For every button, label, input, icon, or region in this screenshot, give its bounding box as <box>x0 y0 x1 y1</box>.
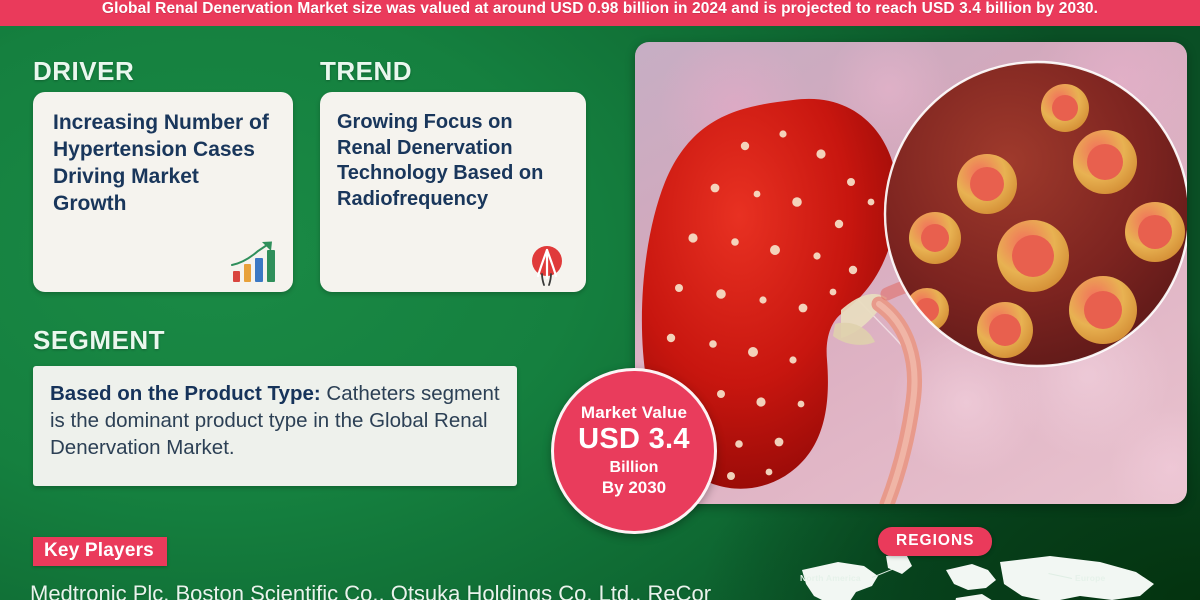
region-label-europe: Europe <box>1075 573 1105 583</box>
market-value-amount: USD 3.4 <box>578 423 690 456</box>
kidney-illustration-graphic <box>635 42 1187 504</box>
driver-heading: DRIVER <box>33 56 134 87</box>
market-value-label: Market Value <box>581 404 687 423</box>
market-value-year: By 2030 <box>602 478 666 498</box>
region-label-north-america: North America <box>800 573 861 583</box>
kidney-nerve-icon <box>524 244 570 286</box>
segment-label: Based on the Product Type: <box>50 382 321 405</box>
kidney-illustration <box>635 42 1187 504</box>
bar-chart-growth-icon <box>228 239 284 285</box>
driver-card-text: Increasing Number of Hypertension Cases … <box>53 110 275 218</box>
trend-heading: TREND <box>320 56 412 87</box>
regions-badge: REGIONS <box>878 527 992 556</box>
market-value-bubble: Market Value USD 3.4 Billion By 2030 <box>551 368 717 534</box>
top-banner: Global Renal Denervation Market size was… <box>0 0 1200 26</box>
key-players-badge: Key Players <box>33 537 167 566</box>
market-value-unit: Billion <box>610 458 659 477</box>
segment-card: Based on the Product Type: Catheters seg… <box>33 366 517 486</box>
left-content-column: DRIVER Increasing Number of Hypertension… <box>0 26 620 600</box>
top-banner-text: Global Renal Denervation Market size was… <box>102 1 1098 17</box>
segment-heading: SEGMENT <box>33 325 165 356</box>
key-players-list: Medtronic Plc, Boston Scientific Co., Ot… <box>30 581 790 600</box>
driver-card: Increasing Number of Hypertension Cases … <box>33 92 293 292</box>
trend-card: Growing Focus on Renal Denervation Techn… <box>320 92 586 292</box>
trend-card-text: Growing Focus on Renal Denervation Techn… <box>337 110 572 212</box>
